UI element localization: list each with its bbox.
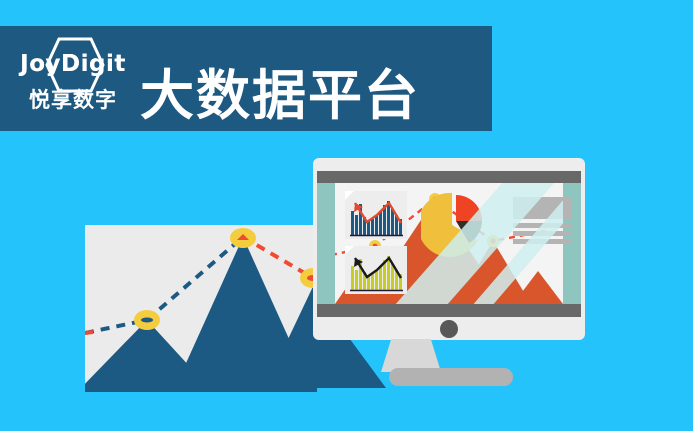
page-fold-corner — [345, 246, 354, 255]
screen-strip-left — [317, 183, 335, 304]
monitor-screen — [317, 183, 581, 304]
mountain-trend-graphic — [85, 225, 317, 392]
pie-chart[interactable] — [421, 189, 489, 257]
bar-chart-blue-graphic — [345, 191, 407, 239]
illustration-canvas: JoyDigit 悦享数字 大数据平台 — [0, 0, 693, 431]
data-marker-center — [141, 318, 153, 323]
placeholder-image — [513, 197, 571, 219]
trend-line-red-stub — [85, 332, 93, 333]
monitor-top-bar — [317, 171, 581, 183]
monitor-base — [389, 368, 513, 386]
bar-chart-card-yellow[interactable] — [345, 246, 407, 294]
data-marker-center — [491, 239, 496, 244]
placeholder-text-block — [513, 197, 571, 241]
placeholder-line — [513, 223, 571, 228]
page-fold-corner — [345, 191, 354, 200]
bar-chart-yellow-graphic — [345, 246, 407, 294]
monitor-shadow — [293, 335, 386, 388]
desktop-monitor — [313, 158, 585, 340]
page-title: 大数据平台 — [140, 66, 420, 126]
pie-slice-red — [456, 195, 482, 221]
placeholder-line — [513, 239, 571, 244]
header-banner: JoyDigit 悦享数字 大数据平台 — [0, 26, 492, 131]
bar-chart-card-blue[interactable] — [345, 191, 407, 239]
logo-subtitle: 悦享数字 — [14, 86, 132, 116]
monitor-bottom-bar — [317, 304, 581, 317]
brand-logo: JoyDigit 悦享数字 — [14, 30, 132, 126]
mountain-trend-panel — [85, 225, 317, 392]
webcam-icon — [440, 320, 458, 338]
dashboard-content — [335, 183, 563, 304]
logo-wordmark: JoyDigit — [14, 49, 132, 79]
placeholder-line — [513, 231, 571, 236]
